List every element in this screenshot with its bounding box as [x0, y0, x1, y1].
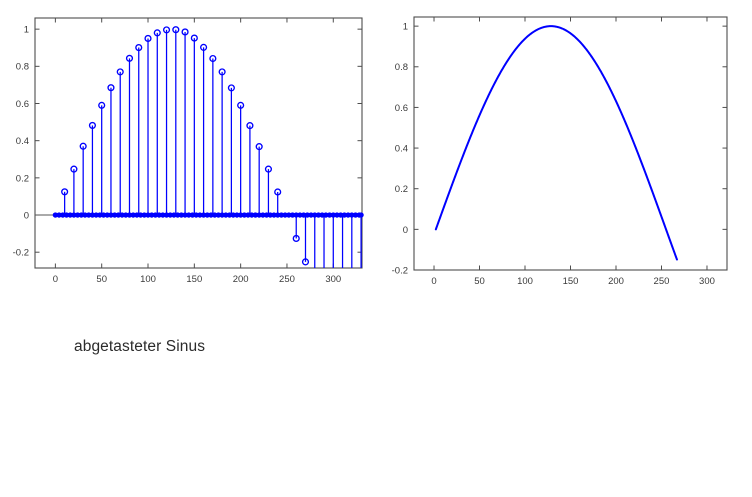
y-tick-label: 0.2	[16, 173, 29, 184]
x-tick-label: 250	[279, 274, 295, 285]
stem-series	[62, 27, 361, 268]
x-tick-label: 50	[96, 274, 107, 285]
x-tick-label: 100	[140, 274, 156, 285]
y-tick-label: 0.6	[395, 103, 408, 114]
x-tick-label: 300	[325, 274, 341, 285]
x-tick-label: 50	[474, 276, 485, 287]
y-tick-label: 0.8	[395, 62, 408, 73]
x-tick-label: 200	[233, 274, 249, 285]
y-tick-label: 0.8	[16, 62, 29, 73]
y-tick-label: -0.2	[392, 265, 408, 276]
x-tick-label: 150	[186, 274, 202, 285]
x-tick-label: 150	[563, 276, 579, 287]
plot-sampled-sine: 050100150200250300-0.200.20.40.60.81	[0, 0, 376, 300]
reconstructed-sine-curve	[436, 26, 677, 259]
y-tick-label: 0	[24, 210, 29, 221]
sampled-sine-svg: 050100150200250300-0.200.20.40.60.81	[0, 0, 376, 300]
y-tick-label: 0.4	[16, 136, 29, 147]
y-tick-label: 0.4	[395, 143, 408, 154]
figure-container: 050100150200250300-0.200.20.40.60.81 abg…	[0, 0, 752, 407]
x-tick-label: 300	[699, 276, 715, 287]
reconstructed-sine-svg: 050100150200250300-0.200.20.40.60.81	[376, 0, 752, 300]
y-tick-label: 0	[403, 225, 408, 236]
baseline-zero-samples	[53, 213, 363, 217]
y-tick-label: 1	[403, 22, 408, 33]
x-tick-label: 100	[517, 276, 533, 287]
x-tick-label: 200	[608, 276, 624, 287]
y-tick-label: -0.2	[13, 248, 29, 259]
y-tick-label: 0.6	[16, 99, 29, 110]
y-tick-label: 0.2	[395, 184, 408, 195]
x-tick-label: 0	[53, 274, 58, 285]
plot-reconstructed-sine: 050100150200250300-0.200.20.40.60.81	[376, 0, 752, 300]
y-tick-label: 1	[24, 25, 29, 36]
caption-sampled-sine: abgetasteter Sinus	[74, 337, 205, 357]
x-tick-label: 250	[654, 276, 670, 287]
x-tick-label: 0	[431, 276, 436, 287]
